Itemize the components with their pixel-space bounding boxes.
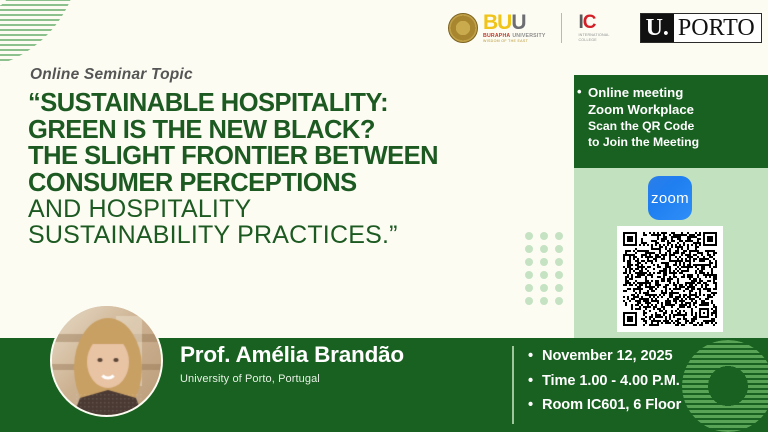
- seminar-poster: BUU BURAPHA UNIVERSITY WISDOM OF THE EAS…: [0, 0, 768, 432]
- ic-name-line-1: INTERNATIONAL: [578, 33, 609, 38]
- speaker-info: Prof. Amélia Brandão University of Porto…: [180, 338, 404, 385]
- event-date: November 12, 2025: [528, 344, 681, 369]
- ic-name-line-2: COLLEGE: [578, 38, 609, 43]
- title-line-2: GREEN IS THE NEW BLACK?: [28, 117, 568, 144]
- title-line-3: THE SLIGHT FRONTIER BETWEEN: [28, 143, 568, 170]
- buu-logo: BUU BURAPHA UNIVERSITY WISDOM OF THE EAS…: [448, 12, 545, 44]
- decorative-striped-arc-top-left: [0, 0, 80, 70]
- event-room: Room IC601, 6 Floor: [528, 393, 681, 418]
- meeting-line-2: Zoom Workplace: [588, 102, 760, 119]
- buu-abbrev-part-1: BU: [483, 11, 511, 34]
- zoom-app-icon[interactable]: zoom: [648, 176, 692, 220]
- buu-abbreviation: BUU: [483, 12, 545, 33]
- logo-separator: [561, 13, 562, 43]
- title-line-1: “SUSTAINABLE HOSPITALITY:: [28, 90, 568, 117]
- event-details: November 12, 2025 Time 1.00 - 4.00 P.M. …: [528, 344, 681, 418]
- ic-abbrev-part-2: C: [583, 12, 596, 33]
- meeting-info-panel: Online meeting Zoom Workplace Scan the Q…: [574, 75, 768, 168]
- vertical-divider: [512, 346, 514, 424]
- seminar-kicker: Online Seminar Topic: [30, 66, 193, 84]
- decorative-striped-circle-bottom-right: [682, 340, 768, 432]
- burapha-seal-icon: [448, 13, 478, 43]
- buu-abbrev-part-2: U: [511, 11, 525, 34]
- meeting-line-4: to Join the Meeting: [588, 135, 760, 151]
- buu-tagline: WISDOM OF THE EAST: [483, 40, 545, 44]
- meeting-line-1: Online meeting: [588, 85, 760, 102]
- title-line-4: CONSUMER PERCEPTIONS: [28, 170, 568, 197]
- qr-code[interactable]: [617, 226, 723, 332]
- meeting-line-3: Scan the QR Code: [588, 119, 760, 135]
- speaker-name: Prof. Amélia Brandão: [180, 342, 404, 368]
- uporto-u-mark: U.: [641, 14, 674, 42]
- uporto-wordmark: PORTO: [674, 14, 761, 42]
- event-time: Time 1.00 - 4.00 P.M.: [528, 369, 681, 394]
- title-line-6: SUSTAINABILITY PRACTICES.”: [28, 222, 568, 248]
- ic-logo: IC INTERNATIONAL COLLEGE: [578, 13, 609, 43]
- seminar-title: “SUSTAINABLE HOSPITALITY: GREEN IS THE N…: [28, 90, 568, 248]
- logo-bar: BUU BURAPHA UNIVERSITY WISDOM OF THE EAS…: [448, 12, 762, 44]
- uporto-logo: U. PORTO: [640, 13, 762, 43]
- speaker-affiliation: University of Porto, Portugal: [180, 373, 404, 385]
- speaker-avatar: [50, 304, 163, 417]
- title-line-5: AND HOSPITALITY: [28, 196, 568, 222]
